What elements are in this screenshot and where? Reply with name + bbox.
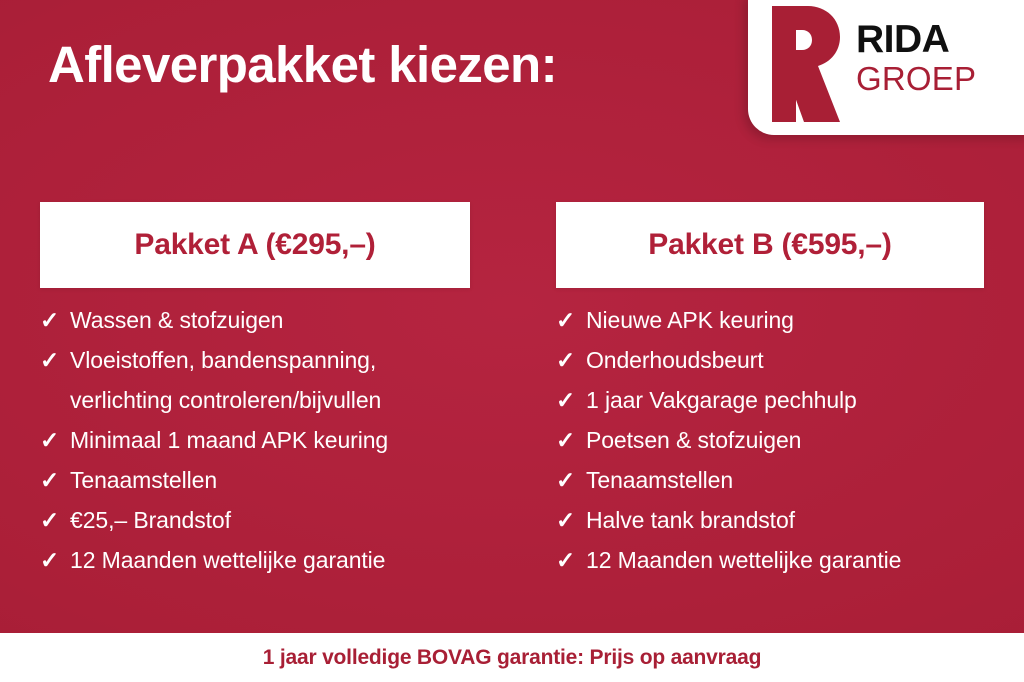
check-icon: ✓ — [556, 540, 586, 580]
list-item: ✓ 1 jaar Vakgarage pechhulp — [556, 380, 984, 420]
check-icon: ✓ — [556, 340, 586, 380]
list-item: ✓ Nieuwe APK keuring — [556, 300, 984, 340]
check-icon: ✓ — [556, 420, 586, 460]
check-icon: ✓ — [40, 300, 70, 340]
feature-text: Minimaal 1 maand APK keuring — [70, 420, 470, 460]
feature-text: Onderhoudsbeurt — [586, 340, 984, 380]
feature-text-line1: Vloeistoffen, bandenspanning, — [70, 340, 470, 380]
feature-text: Wassen & stofzuigen — [70, 300, 470, 340]
package-card-b[interactable]: Pakket B (€595,–) ✓ Nieuwe APK keuring ✓… — [556, 202, 984, 580]
package-b-title: Pakket B (€595,–) — [648, 228, 891, 262]
feature-text: Nieuwe APK keuring — [586, 300, 984, 340]
list-item: ✓ 12 Maanden wettelijke garantie — [556, 540, 984, 580]
package-a-feature-list: ✓ Wassen & stofzuigen ✓ Vloeistoffen, ba… — [40, 300, 470, 580]
feature-text: Vloeistoffen, bandenspanning, verlichtin… — [70, 340, 470, 420]
logo-subbrand-text: GROEP — [856, 61, 1016, 97]
logo-wordmark: RIDA GROEP — [856, 20, 1016, 97]
package-a-title: Pakket A (€295,–) — [134, 228, 375, 262]
check-icon: ✓ — [40, 340, 70, 380]
poster-header: Afleverpakket kiezen: RIDA GROEP — [0, 0, 1024, 140]
feature-text: 12 Maanden wettelijke garantie — [586, 540, 984, 580]
check-icon: ✓ — [40, 460, 70, 500]
check-icon: ✓ — [40, 500, 70, 540]
list-item: ✓ 12 Maanden wettelijke garantie — [40, 540, 470, 580]
check-icon: ✓ — [40, 420, 70, 460]
feature-text: Tenaamstellen — [586, 460, 984, 500]
page-title: Afleverpakket kiezen: — [48, 34, 557, 96]
afleverpakket-poster: Afleverpakket kiezen: RIDA GROEP Pakket … — [0, 0, 1024, 682]
footer-text: 1 jaar volledige BOVAG garantie: Prijs o… — [263, 646, 761, 670]
check-icon: ✓ — [40, 540, 70, 580]
feature-text: Poetsen & stofzuigen — [586, 420, 984, 460]
list-item: ✓ Tenaamstellen — [40, 460, 470, 500]
list-item: ✓ Halve tank brandstof — [556, 500, 984, 540]
logo-brand-text: RIDA — [856, 20, 1016, 60]
package-b-feature-list: ✓ Nieuwe APK keuring ✓ Onderhoudsbeurt ✓… — [556, 300, 984, 580]
rida-r-monogram-icon — [768, 6, 840, 122]
check-icon: ✓ — [556, 300, 586, 340]
rida-groep-logo: RIDA GROEP — [748, 0, 1024, 135]
list-item: ✓ Poetsen & stofzuigen — [556, 420, 984, 460]
list-item: ✓ Onderhoudsbeurt — [556, 340, 984, 380]
footer-banner: 1 jaar volledige BOVAG garantie: Prijs o… — [0, 633, 1024, 682]
list-item: ✓ Wassen & stofzuigen — [40, 300, 470, 340]
list-item: ✓ €25,– Brandstof — [40, 500, 470, 540]
package-card-a[interactable]: Pakket A (€295,–) ✓ Wassen & stofzuigen … — [40, 202, 470, 580]
feature-text: 1 jaar Vakgarage pechhulp — [586, 380, 984, 420]
feature-text: 12 Maanden wettelijke garantie — [70, 540, 470, 580]
list-item: ✓ Tenaamstellen — [556, 460, 984, 500]
feature-text-line2: verlichting controleren/bijvullen — [70, 380, 470, 420]
package-a-header: Pakket A (€295,–) — [40, 202, 470, 288]
list-item: ✓ Minimaal 1 maand APK keuring — [40, 420, 470, 460]
check-icon: ✓ — [556, 500, 586, 540]
check-icon: ✓ — [556, 460, 586, 500]
package-b-header: Pakket B (€595,–) — [556, 202, 984, 288]
feature-text: Tenaamstellen — [70, 460, 470, 500]
feature-text: Halve tank brandstof — [586, 500, 984, 540]
check-icon: ✓ — [556, 380, 586, 420]
list-item: ✓ Vloeistoffen, bandenspanning, verlicht… — [40, 340, 470, 420]
feature-text: €25,– Brandstof — [70, 500, 470, 540]
